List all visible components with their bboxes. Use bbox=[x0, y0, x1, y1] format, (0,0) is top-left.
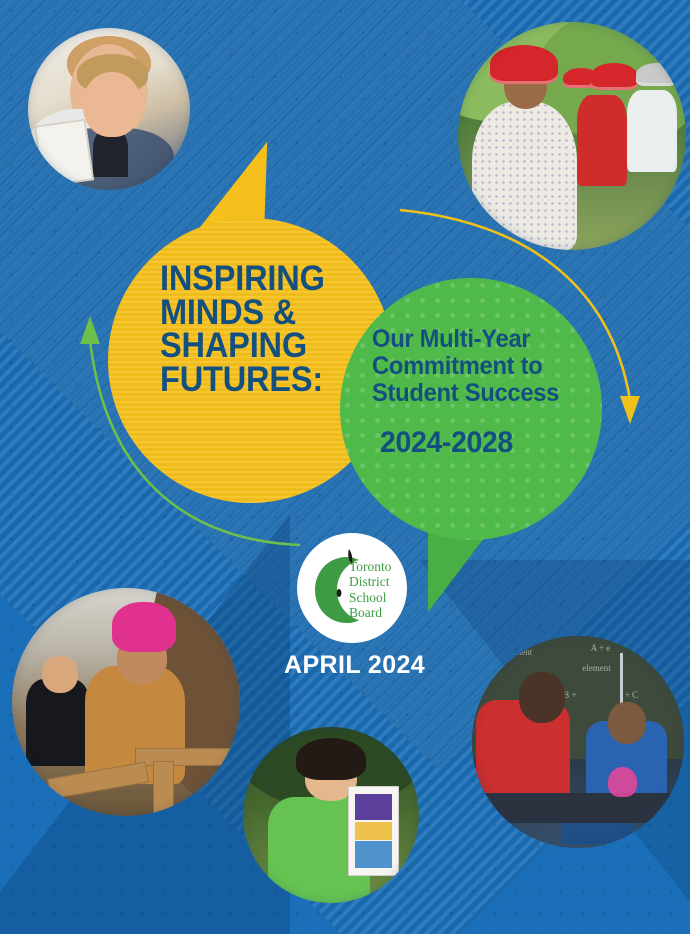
publication-date: APRIL 2024 bbox=[284, 651, 425, 680]
photo-boy-clipboard bbox=[28, 28, 190, 190]
photo-student-cyclists bbox=[458, 22, 686, 250]
report-cover: INSPIRING MINDS & SHAPING FUTURES: Our M… bbox=[0, 0, 690, 934]
tdsb-logo: Toronto District School Board bbox=[297, 533, 407, 643]
page-subtitle: Our Multi-Year Commitment to Student Suc… bbox=[372, 326, 572, 406]
photo-children-outdoor-play bbox=[12, 588, 240, 816]
green-subtitle-bubble: Our Multi-Year Commitment to Student Suc… bbox=[340, 278, 602, 540]
plan-year-range: 2024-2028 bbox=[380, 426, 580, 460]
chalk-line-1: A + e bbox=[591, 643, 611, 653]
chalk-line-4: + C bbox=[625, 690, 638, 700]
logo-wordmark: Toronto District School Board bbox=[349, 559, 392, 620]
chalk-line-2: element bbox=[582, 663, 611, 673]
chalk-line-0: displacement bbox=[485, 647, 532, 657]
photo-boy-artwork bbox=[243, 727, 419, 903]
green-bubble-disc bbox=[340, 278, 602, 540]
photo-science-lab: displacement A + e element AB + + C bbox=[472, 636, 684, 848]
